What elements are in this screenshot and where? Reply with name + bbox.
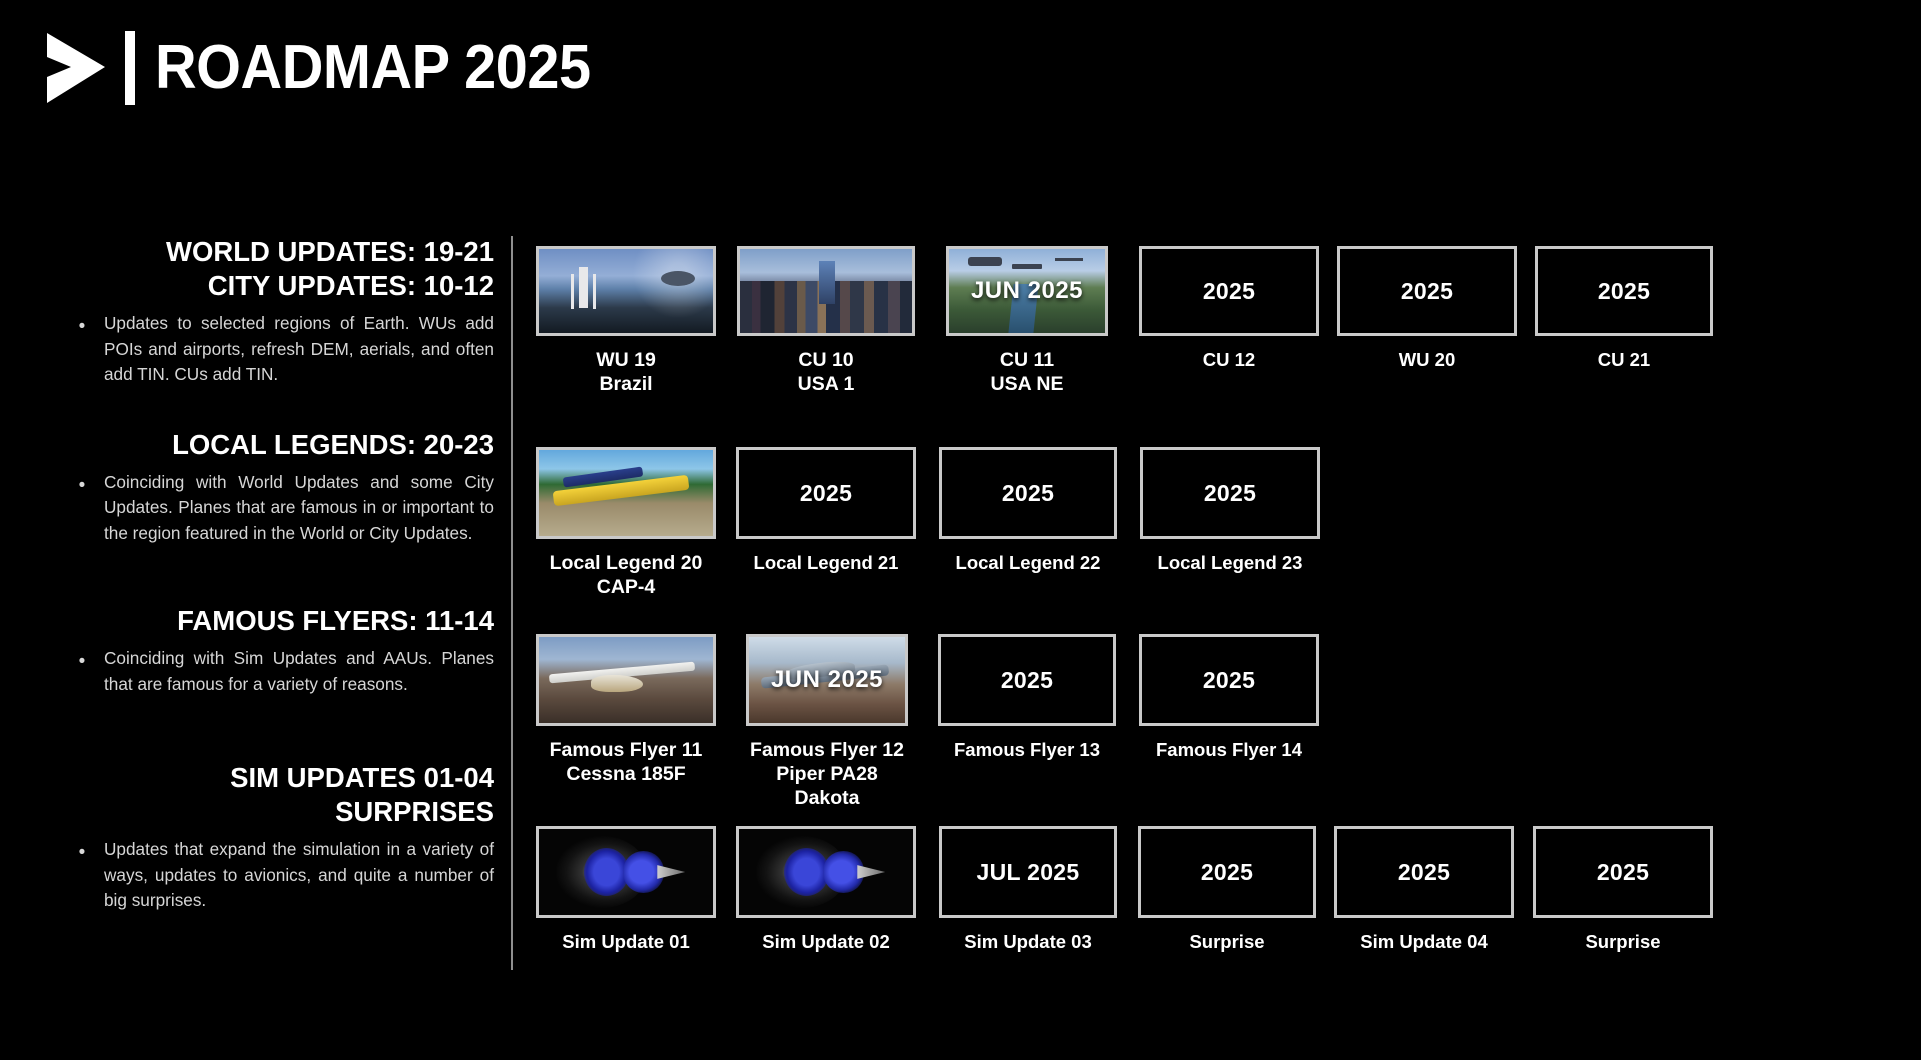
roadmap-card[interactable]: JUL 2025Sim Update 03	[939, 826, 1117, 954]
card-year-text: 2025	[1204, 480, 1256, 507]
card-year-text: 2025	[1203, 278, 1255, 305]
roadmap-card[interactable]: 2025Local Legend 23	[1140, 447, 1320, 575]
card-thumbnail[interactable]: 2025	[1138, 826, 1316, 918]
roadmap-card[interactable]: JUN 2025CU 11 USA NE	[946, 246, 1108, 396]
card-thumbnail[interactable]	[536, 826, 716, 918]
roadmap-card[interactable]: WU 19 Brazil	[536, 246, 716, 396]
sidebar-section-body: •Coinciding with Sim Updates and AAUs. P…	[60, 646, 500, 697]
card-label: Sim Update 04	[1334, 930, 1514, 954]
roadmap-card[interactable]: Sim Update 02	[736, 826, 916, 954]
card-label: Sim Update 03	[939, 930, 1117, 954]
engine-eng-tip	[657, 865, 685, 879]
card-label: Local Legend 23	[1140, 551, 1320, 575]
roadmap-page: ROADMAP 2025 WORLD UPDATES: 19-21 CITY U…	[0, 0, 1921, 1060]
card-thumbnail[interactable]: JUN 2025	[946, 246, 1108, 336]
card-thumbnail[interactable]: JUN 2025	[746, 634, 908, 726]
card-label: CU 21	[1535, 348, 1713, 372]
card-thumbnail[interactable]: 2025	[1535, 246, 1713, 336]
card-thumbnail[interactable]	[536, 447, 716, 539]
sidebar-section-3: SIM UPDATES 01-04 SURPRISES•Updates that…	[60, 761, 500, 914]
bullet-icon: •	[60, 311, 104, 388]
card-label: Local Legend 22	[939, 551, 1117, 575]
roadmap-card[interactable]: 2025Famous Flyer 13	[938, 634, 1116, 762]
sidebar-section-title: SIM UPDATES 01-04 SURPRISES	[60, 761, 500, 829]
roadmap-card[interactable]: 2025Local Legend 22	[939, 447, 1117, 575]
thumbnail-image	[740, 249, 912, 333]
bullet-icon: •	[60, 470, 104, 547]
sidebar-section-text: Coinciding with World Updates and some C…	[104, 470, 494, 547]
card-thumbnail[interactable]	[737, 246, 915, 336]
roadmap-card[interactable]: CU 10 USA 1	[737, 246, 915, 396]
sidebar-section-body: •Updates that expand the simulation in a…	[60, 837, 500, 914]
bullet-icon: •	[60, 837, 104, 914]
thumbnail-image	[539, 249, 713, 333]
sidebar-descriptions: WORLD UPDATES: 19-21 CITY UPDATES: 10-12…	[60, 235, 500, 920]
header-divider	[125, 31, 135, 105]
card-label: Local Legend 21	[736, 551, 916, 575]
page-title: ROADMAP 2025	[155, 31, 591, 105]
card-date-overlay: JUN 2025	[749, 666, 905, 694]
card-year-text: 2025	[1398, 859, 1450, 886]
card-year-text: 2025	[1598, 278, 1650, 305]
sidebar-section-0: WORLD UPDATES: 19-21 CITY UPDATES: 10-12…	[60, 235, 500, 388]
card-thumbnail[interactable]: 2025	[1533, 826, 1713, 918]
sidebar-section-body: •Coinciding with World Updates and some …	[60, 470, 500, 547]
roadmap-card[interactable]: Local Legend 20 CAP-4	[536, 447, 716, 599]
sidebar-section-1: LOCAL LEGENDS: 20-23•Coinciding with Wor…	[60, 428, 500, 547]
bullet-icon: •	[60, 646, 104, 697]
card-label: Famous Flyer 13	[938, 738, 1116, 762]
card-label: Famous Flyer 12 Piper PA28 Dakota	[746, 738, 908, 810]
card-date-overlay: JUN 2025	[949, 277, 1105, 305]
card-label: Famous Flyer 14	[1139, 738, 1319, 762]
sidebar-section-title: FAMOUS FLYERS: 11-14	[60, 604, 500, 638]
card-label: CU 12	[1139, 348, 1319, 372]
card-year-text: 2025	[1597, 859, 1649, 886]
roadmap-card[interactable]: Famous Flyer 11 Cessna 185F	[536, 634, 716, 786]
card-label: WU 20	[1337, 348, 1517, 372]
sidebar-section-text: Updates that expand the simulation in a …	[104, 837, 494, 914]
card-label: Surprise	[1138, 930, 1316, 954]
roadmap-card[interactable]: 2025Famous Flyer 14	[1139, 634, 1319, 762]
card-label: Sim Update 01	[536, 930, 716, 954]
sidebar-section-title: WORLD UPDATES: 19-21 CITY UPDATES: 10-12	[60, 235, 500, 303]
thumbnail-image	[539, 450, 713, 536]
card-label: Local Legend 20 CAP-4	[536, 551, 716, 599]
card-year-text: 2025	[1401, 278, 1453, 305]
card-thumbnail[interactable]: 2025	[938, 634, 1116, 726]
card-label: Surprise	[1533, 930, 1713, 954]
roadmap-card[interactable]: 2025Surprise	[1138, 826, 1316, 954]
roadmap-card[interactable]: 2025Sim Update 04	[1334, 826, 1514, 954]
card-year-text: 2025	[1201, 859, 1253, 886]
card-thumbnail[interactable]: 2025	[1334, 826, 1514, 918]
card-year-text: 2025	[800, 480, 852, 507]
card-thumbnail[interactable]	[736, 826, 916, 918]
card-thumbnail[interactable]: 2025	[1139, 246, 1319, 336]
card-label: CU 10 USA 1	[737, 348, 915, 396]
card-year-text: 2025	[1203, 667, 1255, 694]
roadmap-card[interactable]: 2025WU 20	[1337, 246, 1517, 372]
sidebar-section-text: Updates to selected regions of Earth. WU…	[104, 311, 494, 388]
roadmap-card[interactable]: 2025CU 12	[1139, 246, 1319, 372]
card-year-text: JUL 2025	[977, 859, 1080, 886]
sidebar-section-body: •Updates to selected regions of Earth. W…	[60, 311, 500, 388]
sidebar-section-2: FAMOUS FLYERS: 11-14•Coinciding with Sim…	[60, 604, 500, 697]
thumbnail-image	[539, 829, 713, 915]
card-thumbnail[interactable]: 2025	[939, 447, 1117, 539]
roadmap-card[interactable]: JUN 2025Famous Flyer 12 Piper PA28 Dakot…	[746, 634, 908, 810]
card-thumbnail[interactable]: 2025	[1337, 246, 1517, 336]
card-thumbnail[interactable]	[536, 246, 716, 336]
roadmap-card[interactable]: 2025Local Legend 21	[736, 447, 916, 575]
vertical-divider	[511, 236, 513, 970]
card-year-text: 2025	[1001, 667, 1053, 694]
roadmap-card[interactable]: Sim Update 01	[536, 826, 716, 954]
card-label: Famous Flyer 11 Cessna 185F	[536, 738, 716, 786]
thumbnail-image	[739, 829, 913, 915]
page-header: ROADMAP 2025	[45, 26, 623, 110]
card-label: CU 11 USA NE	[946, 348, 1108, 396]
card-thumbnail[interactable]: 2025	[736, 447, 916, 539]
card-thumbnail[interactable]: JUL 2025	[939, 826, 1117, 918]
roadmap-card[interactable]: 2025CU 21	[1535, 246, 1713, 372]
chevron-right-icon	[45, 31, 107, 105]
sidebar-section-text: Coinciding with Sim Updates and AAUs. Pl…	[104, 646, 494, 697]
engine-eng-tip	[857, 865, 885, 879]
card-label: Sim Update 02	[736, 930, 916, 954]
thumbnail-image	[539, 637, 713, 723]
card-label: WU 19 Brazil	[536, 348, 716, 396]
card-thumbnail[interactable]: 2025	[1140, 447, 1320, 539]
card-year-text: 2025	[1002, 480, 1054, 507]
sidebar-section-title: LOCAL LEGENDS: 20-23	[60, 428, 500, 462]
roadmap-card[interactable]: 2025Surprise	[1533, 826, 1713, 954]
card-thumbnail[interactable]	[536, 634, 716, 726]
card-thumbnail[interactable]: 2025	[1139, 634, 1319, 726]
